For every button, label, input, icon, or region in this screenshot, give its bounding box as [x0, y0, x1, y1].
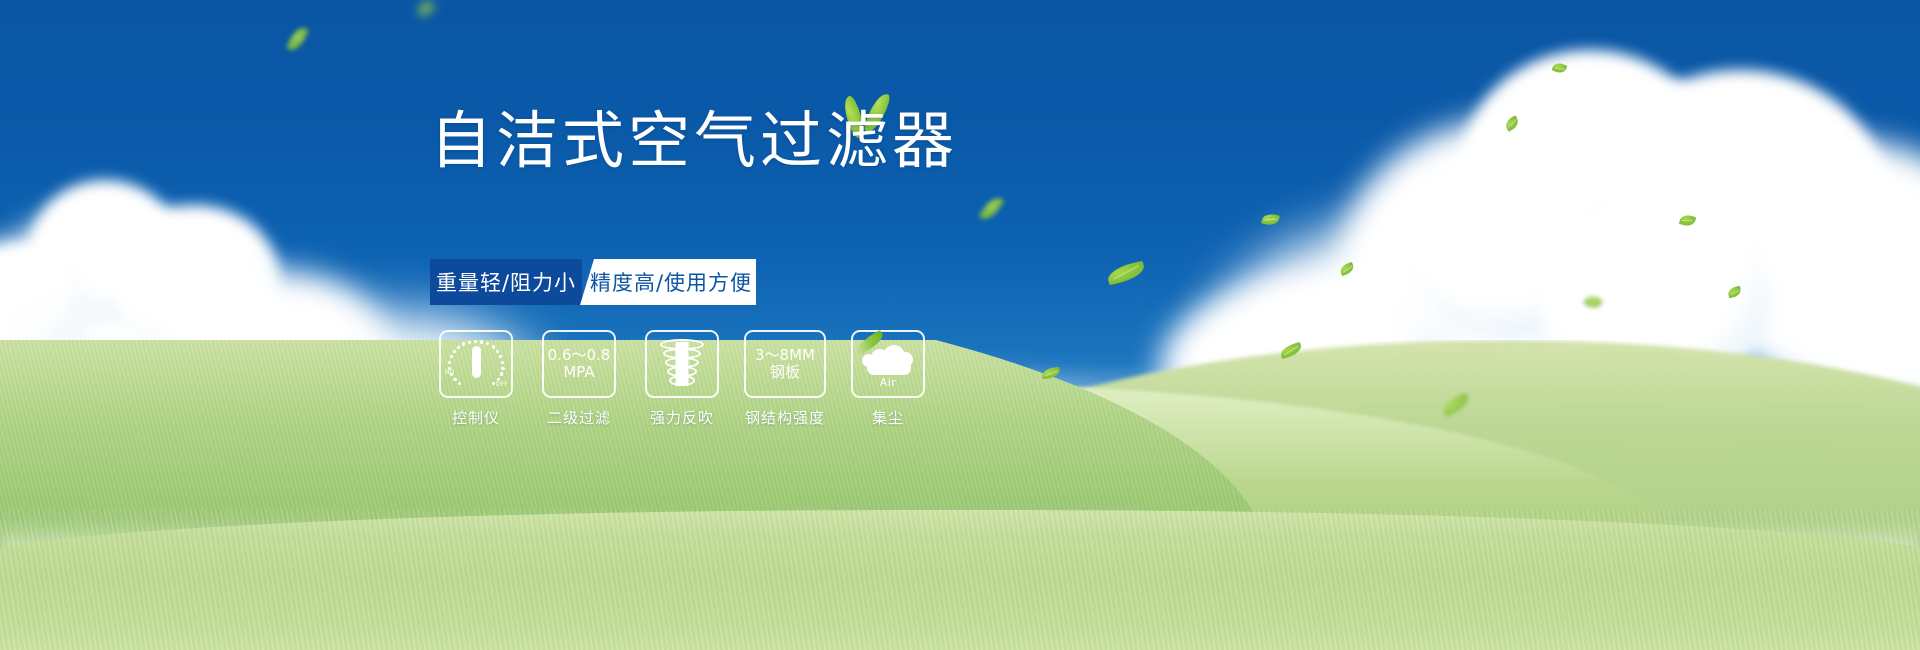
feature-item-controller: NO OFF 控制仪 — [436, 330, 516, 428]
feature-box: 3～8MM 钢板 — [744, 330, 826, 398]
feature-value-line2: 钢板 — [770, 364, 800, 381]
tag-primary: 重量轻/阻力小 — [430, 259, 582, 305]
hero-banner: 自洁式空气过滤器 重量轻/阻力小 精度高/使用方便 — [0, 0, 1920, 650]
gauge-icon: NO OFF — [446, 338, 506, 390]
feature-item-reverse-blow: 强力反吹 — [642, 330, 722, 428]
reverse-blow-icon — [656, 339, 708, 389]
page-title: 自洁式空气过滤器 — [430, 110, 958, 172]
gauge-off-label: OFF — [495, 381, 508, 388]
feature-value-line1: 0.6～0.8 — [548, 347, 611, 364]
feature-box: NO OFF — [439, 330, 513, 398]
feature-box: 0.6～0.8 MPA — [542, 330, 616, 398]
gauge-on-label: NO — [445, 369, 455, 376]
feature-item-filtration: 0.6～0.8 MPA 二级过滤 — [539, 330, 619, 428]
feature-label: 二级过滤 — [547, 407, 611, 428]
feature-value-line1: 3～8MM — [755, 347, 815, 364]
feature-box: Air — [851, 330, 925, 398]
feature-item-dust: Air 集尘 — [848, 330, 928, 428]
air-label: Air — [859, 376, 917, 389]
feature-label: 强力反吹 — [650, 407, 714, 428]
feature-label: 集尘 — [872, 407, 904, 428]
tag-secondary: 精度高/使用方便 — [580, 259, 756, 305]
feature-label: 钢结构强度 — [745, 407, 825, 428]
air-cloud-icon: Air — [859, 341, 917, 387]
tagline-bar: 重量轻/阻力小 精度高/使用方便 — [430, 259, 756, 305]
feature-value-line2: MPA — [563, 364, 594, 381]
feature-box — [645, 330, 719, 398]
feature-list: NO OFF 控制仪 0.6～0.8 MPA 二级过滤 — [436, 330, 928, 428]
feature-label: 控制仪 — [452, 407, 500, 428]
feature-item-steel: 3～8MM 钢板 钢结构强度 — [745, 330, 825, 428]
banner-content: 自洁式空气过滤器 重量轻/阻力小 精度高/使用方便 — [0, 0, 1920, 650]
